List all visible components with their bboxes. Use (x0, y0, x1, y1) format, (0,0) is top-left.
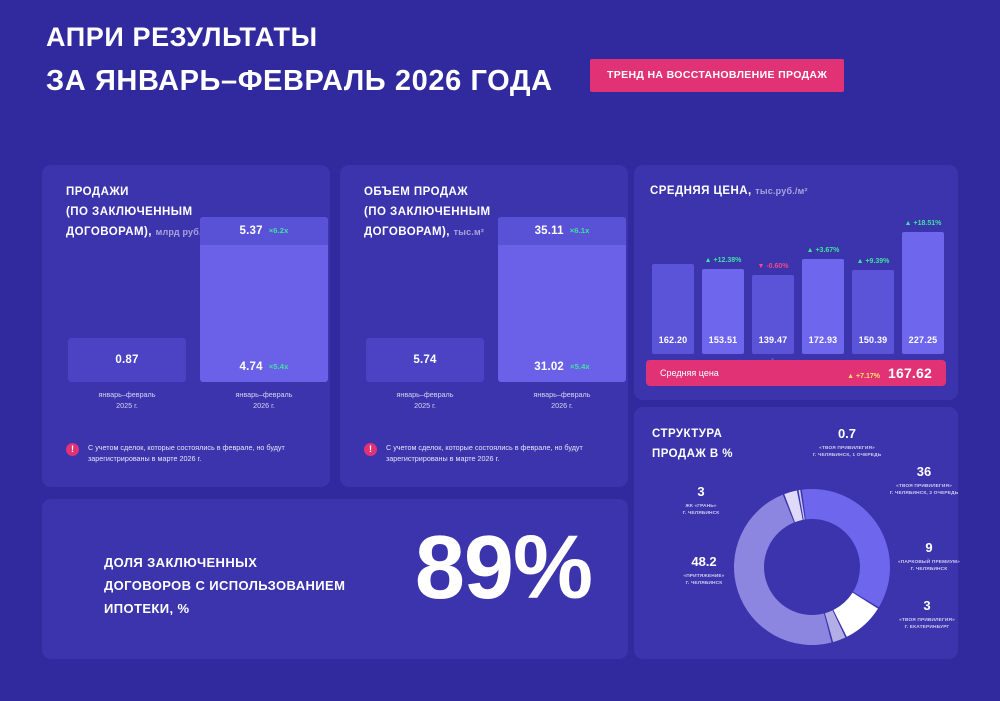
price-unit: тыс.руб./м² (755, 186, 807, 196)
price-bar-5: ▲ +9.39%150.39«ПРИТЯЖЕНИЕ»г. Челябинск (852, 270, 894, 354)
volume-bar-2026-inner: 31.02 ×5.4х (498, 361, 626, 373)
price-bar-3: ▼ -0.60%139.47«ПАРКОВЫЙ ПРЕМИУМ»г. Челяб… (752, 275, 794, 354)
sales-bar-2025-caption: январь–февраль 2025 г. (68, 389, 186, 411)
price-bar-5-delta: ▲ +9.39% (842, 258, 904, 265)
price-bar-3-value: 139.47 (759, 335, 788, 345)
volume-bar-2025-box: 5.74 (366, 338, 484, 382)
sales-note: ! С учетом сделок, которые состоялись в … (66, 442, 310, 465)
trend-badge: ТРЕНД НА ВОССТАНОВЛЕНИЕ ПРОДАЖ (590, 59, 844, 92)
sales-structure-panel: СТРУКТУРА ПРОДАЖ В % 0.7«ТВОЯ ПРИВИЛЕГИЯ… (634, 407, 958, 659)
volume-bar-2025-caption: январь–февраль 2025 г. (366, 389, 484, 411)
sales-title-line1: ПРОДАЖИ (66, 183, 202, 203)
sales-bar-2026-box: 5.37 ×6.2х 4.74 ×5.4х (200, 217, 328, 382)
price-bar-3-box: 139.47 (752, 275, 794, 354)
average-price-delta: ▲ +7.17% (847, 373, 880, 380)
volume-bar-2026-forecast-segment: 35.11 ×6.1х (498, 217, 626, 245)
donut-label-2: 36«ТВОЯ ПРИВИЛЕГИЯ»Г. ЧЕЛЯБИНСК, 2 ОЧЕРЕ… (874, 465, 974, 498)
sales-note-icon: ! (66, 443, 79, 456)
volume-bar-2026-caption: январь–февраль 2026 г. (498, 389, 626, 411)
mortgage-share-panel: ДОЛЯ ЗАКЛЮЧЕННЫХ ДОГОВОРОВ С ИСПОЛЬЗОВАН… (42, 499, 628, 659)
donut-label-4: 48.2«ПРИТЯЖЕНИЕ»Г. ЧЕЛЯБИНСК (654, 555, 754, 588)
price-bar-6-delta: ▲ +18.51% (892, 220, 954, 227)
price-title-text: СРЕДНЯЯ ЦЕНА, (650, 185, 752, 197)
average-price-panel: СРЕДНЯЯ ЦЕНА, тыс.руб./м² 162.20«ТВОЯ ПР… (634, 165, 958, 400)
volume-note: ! С учетом сделок, которые состоялись в … (364, 442, 608, 465)
sales-bar-2026-inner: 4.74 ×5.4х (200, 361, 328, 373)
average-price-value: 167.62 (888, 365, 932, 381)
sales-bar-2026-inner-value: 4.74 (240, 361, 263, 373)
price-bar-6-box: 227.25 (902, 232, 944, 354)
volume-bar-2026-box: 35.11 ×6.1х 31.02 ×5.4х (498, 217, 626, 382)
volume-bar-2026-inner-multiplier: ×5.4х (570, 362, 590, 371)
volume-bar-2026-top-value: 35.11 (535, 225, 564, 237)
donut-label-3: 3ЖК «ГРАНЬ»Г. ЧЕЛЯБИНСК (656, 485, 746, 518)
price-bar-2-box: 153.51 (702, 269, 744, 354)
price-bar-1: 162.20«ТВОЯ ПРИВИЛЕГИЯ»г. Челябинск, 1 о… (652, 264, 694, 354)
price-bar-4: ▲ +3.67%172.93«ТВОЯ ПРИВИЛЕГИЯ»г. Екатер… (802, 259, 844, 354)
price-bar-6: ▲ +18.51%227.25ЖК «ГРАНЬ»г. Челябинск (902, 232, 944, 354)
sales-bar-2025-box: 0.87 (68, 338, 186, 382)
sales-note-text: С учетом сделок, которые состоялись в фе… (88, 442, 310, 465)
volume-bar-chart: 5.74 январь–февраль 2025 г. 35.11 ×6.1х … (362, 215, 606, 411)
sales-panel: ПРОДАЖИ (ПО ЗАКЛЮЧЕННЫМ ДОГОВОРАМ), млрд… (42, 165, 330, 487)
volume-bar-2025: 5.74 январь–февраль 2025 г. (366, 338, 484, 411)
price-bar-4-value: 172.93 (809, 335, 838, 345)
price-bar-5-box: 150.39 (852, 270, 894, 354)
volume-bar-2026: 35.11 ×6.1х 31.02 ×5.4х январь–февраль 2… (498, 217, 626, 411)
price-bar-2: ▲ +12.38%153.51«ТВОЯ ПРИВИЛЕГИЯ»г. Челяб… (702, 269, 744, 354)
donut-label-1: 0.7«ТВОЯ ПРИВИЛЕГИЯ»Г. ЧЕЛЯБИНСК, 1 ОЧЕР… (792, 427, 902, 460)
donut-slice-2 (802, 489, 890, 607)
donut-chart-area: 0.7«ТВОЯ ПРИВИЛЕГИЯ»Г. ЧЕЛЯБИНСК, 1 ОЧЕР… (634, 407, 958, 659)
volume-panel: ОБЪЕМ ПРОДАЖ (ПО ЗАКЛЮЧЕННЫМ ДОГОВОРАМ),… (340, 165, 628, 487)
volume-bar-2026-inner-value: 31.02 (534, 361, 564, 373)
price-bar-4-delta: ▲ +3.67% (792, 247, 854, 254)
price-bar-1-value: 162.20 (659, 335, 688, 345)
sales-bar-2026-top-multiplier: ×6.2х (269, 226, 289, 235)
volume-note-icon: ! (364, 443, 377, 456)
price-bar-2-value: 153.51 (709, 335, 738, 345)
price-bar-3-delta: ▼ -0.60% (742, 263, 804, 270)
sales-bar-2026: 5.37 ×6.2х 4.74 ×5.4х январь–февраль 202… (200, 217, 328, 411)
sales-bar-2025: 0.87 январь–февраль 2025 г. (68, 338, 186, 411)
donut-label-6: 3«ТВОЯ ПРИВИЛЕГИЯ»Г. ЕКАТЕРИНБУРГ (882, 599, 972, 632)
page-title-line1: АПРИ РЕЗУЛЬТАТЫ (46, 24, 960, 52)
mortgage-title: ДОЛЯ ЗАКЛЮЧЕННЫХ ДОГОВОРОВ С ИСПОЛЬЗОВАН… (104, 551, 345, 620)
mortgage-value: 89% (415, 523, 592, 613)
price-panel-title: СРЕДНЯЯ ЦЕНА, тыс.руб./м² (650, 182, 808, 202)
infographic-page: АПРИ РЕЗУЛЬТАТЫ ЗА ЯНВАРЬ–ФЕВРАЛЬ 2026 Г… (0, 0, 1000, 701)
volume-title-line1: ОБЪЕМ ПРОДАЖ (364, 183, 491, 203)
volume-bar-2025-value: 5.74 (413, 354, 436, 366)
sales-bar-2026-forecast-segment: 5.37 ×6.2х (200, 217, 328, 245)
sales-bar-2026-inner-multiplier: ×5.4х (269, 362, 289, 371)
price-bar-4-box: 172.93 (802, 259, 844, 354)
sales-bar-2026-caption: январь–февраль 2026 г. (200, 389, 328, 411)
price-bar-6-value: 227.25 (909, 335, 938, 345)
sales-bar-chart: 0.87 январь–февраль 2025 г. 5.37 ×6.2х 4… (64, 215, 308, 411)
volume-note-text: С учетом сделок, которые состоялись в фе… (386, 442, 608, 465)
sales-bar-2026-top-value: 5.37 (240, 225, 263, 237)
donut-label-5: 9«ПАРКОВЫЙ ПРЕМИУМ»Г. ЧЕЛЯБИНСК (884, 541, 974, 574)
average-price-summary: Средняя цена ▲ +7.17% 167.62 (646, 360, 946, 386)
price-bar-5-value: 150.39 (859, 335, 888, 345)
sales-bar-2025-value: 0.87 (115, 354, 138, 366)
volume-bar-2026-top-multiplier: ×6.1х (570, 226, 590, 235)
average-price-label: Средняя цена (660, 368, 719, 378)
price-bar-1-box: 162.20 (652, 264, 694, 354)
price-bar-chart: 162.20«ТВОЯ ПРИВИЛЕГИЯ»г. Челябинск, 1 о… (644, 209, 948, 354)
